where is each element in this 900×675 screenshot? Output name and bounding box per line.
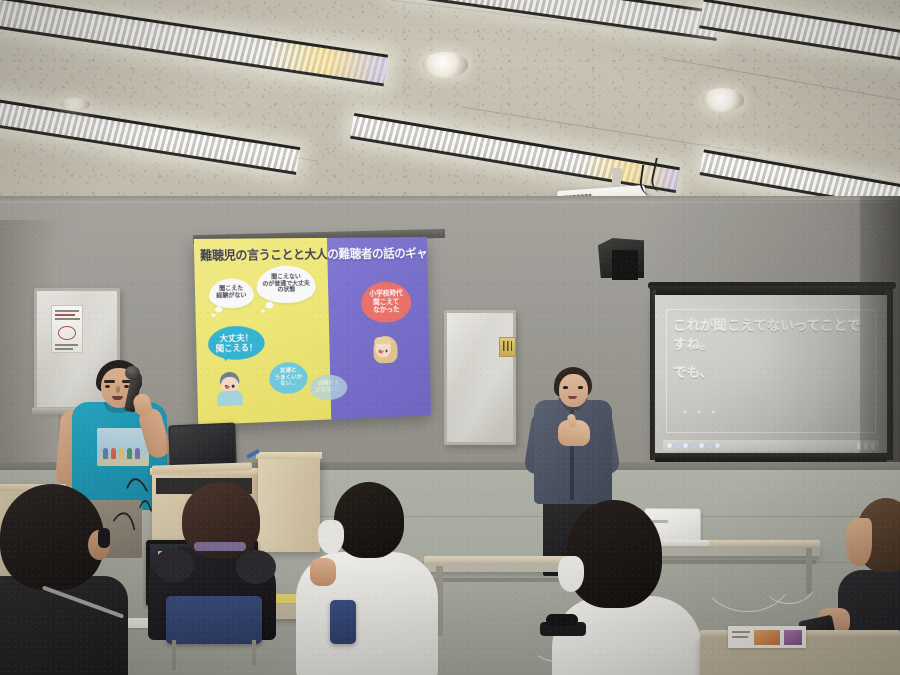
floor-shoe: [546, 614, 578, 626]
audience-hearing-aid: [98, 528, 110, 548]
podium-side-top: [256, 452, 322, 459]
audience-head: [334, 482, 404, 558]
handout-image: [784, 630, 802, 645]
graphic-figure: [103, 448, 108, 459]
whiteboard-notice: [51, 305, 83, 353]
graphic-figure: [119, 448, 124, 459]
whiteboard-equipment-label: [499, 337, 516, 357]
thought-cloud-2: 聞こえない のが普通で大丈夫 の状態: [256, 265, 316, 303]
handout-image: [754, 630, 780, 645]
speech-bubble-friends-text: 友達と うまくいか ない…: [274, 367, 302, 388]
interpreter-face: [559, 374, 588, 407]
audience-face-mask: [318, 520, 344, 554]
recessed-downlight: [60, 98, 90, 111]
recessed-downlight: [422, 52, 468, 78]
interpreter-eye-right: [578, 386, 583, 389]
audience-face: [846, 518, 872, 566]
label-barcode: [503, 341, 512, 351]
speech-bubble-child-text: 大丈夫！ 聞こえる！: [215, 332, 257, 353]
adult-woman-illustration: [372, 334, 399, 368]
child-illustration: [217, 372, 243, 407]
notice-line: [55, 344, 78, 346]
audience-face-mask: [558, 556, 584, 592]
presenter-eye-left: [105, 385, 110, 388]
child-mouth: [225, 386, 230, 389]
lecture-room-photo: 難聴児の言うことと大人の難聴者の話のギャップ 聞こえた 経験がない 聞こえない …: [0, 0, 900, 675]
speech-bubble-grades-text: 成績が上 がらない…: [315, 380, 342, 394]
audience-hand: [310, 558, 336, 586]
graphic-figure: [135, 448, 140, 459]
handout-colour: [728, 626, 806, 648]
slide-title-yellow-part: 難聴児の言うことと大人: [200, 245, 328, 264]
whiteboard-glare: [447, 313, 513, 442]
chair-leg: [252, 640, 256, 666]
projection-screen-left: 難聴児の言うことと大人の難聴者の話のギャップ 聞こえた 経験がない 聞こえない …: [194, 237, 431, 425]
notice-highlight-ring: [58, 326, 76, 340]
interpreter-eye-left: [563, 386, 568, 389]
laptop-logo: [652, 520, 668, 523]
chair-middle[interactable]: [330, 600, 356, 644]
presenter-nose: [116, 386, 120, 393]
chair-left[interactable]: [166, 596, 262, 644]
podium-side-panel: [258, 456, 320, 552]
audience-body: [0, 576, 128, 675]
blouse-ruffle: [236, 550, 276, 584]
woman-eye-right: [386, 349, 388, 352]
blouse-ruffle: [154, 548, 194, 582]
woman-bangs: [374, 337, 392, 344]
chair-leg: [172, 640, 176, 670]
slide-title: 難聴児の言うことと大人の難聴者の話のギャップ: [200, 242, 424, 266]
handout-text-block: [732, 636, 748, 638]
thought-cloud-1-text: 聞こえた 経験がない: [216, 286, 246, 300]
graphic-figure: [111, 448, 116, 459]
handout-text-block: [732, 631, 750, 633]
notice-line: [55, 314, 75, 316]
slide-title-purple-part: の難聴者の話のギャップ: [327, 244, 431, 263]
thought-cloud-1: 聞こえた 経験がない: [209, 278, 255, 309]
thought-cloud-2-text: 聞こえない のが普通で大丈夫 の状態: [262, 274, 310, 295]
notice-line: [55, 310, 79, 312]
child-body: [217, 390, 243, 406]
presenter-brow-left: [104, 380, 115, 383]
notice-line: [55, 318, 80, 320]
graphic-figure: [127, 448, 132, 459]
speech-bubble-adult-text: 小学校時代 聞こえて なかった: [369, 290, 403, 315]
audience-head: [566, 500, 662, 608]
recessed-downlight: [702, 88, 744, 112]
ceiling-speaker-grille: [612, 250, 638, 280]
notice-line: [55, 348, 73, 350]
podium-laptop-screen[interactable]: [168, 423, 236, 467]
whiteboard-right: [444, 310, 516, 445]
child-eye-right: [232, 385, 235, 388]
audience-lanyard: [194, 542, 246, 551]
presenter-shirt-graphic: [97, 428, 149, 466]
